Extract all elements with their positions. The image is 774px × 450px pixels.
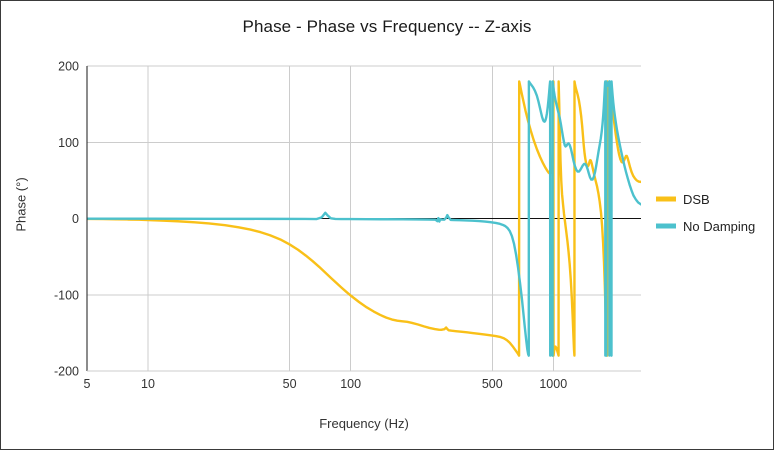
- y-tick-label: 0: [72, 212, 79, 226]
- y-tick-label: 200: [58, 60, 79, 74]
- series-layer: [87, 81, 641, 355]
- x-tick-label: 100: [340, 377, 361, 391]
- legend-label-no-damping[interactable]: No Damping: [683, 219, 755, 234]
- y-tick-label: -100: [54, 288, 79, 302]
- y-tick-label: -200: [54, 365, 79, 379]
- x-tick-label: 5: [84, 377, 91, 391]
- chart-figure: Phase - Phase vs Frequency -- Z-axis Fre…: [0, 0, 774, 450]
- y-tick-label: 100: [58, 136, 79, 150]
- x-tick-label: 1000: [539, 377, 567, 391]
- plot-canvas: -200-1000100200510501005001000 DSBNo Dam…: [1, 1, 773, 449]
- x-tick-label: 50: [283, 377, 297, 391]
- legend-label-dsb[interactable]: DSB: [683, 192, 710, 207]
- x-tick-label: 500: [482, 377, 503, 391]
- tick-label-layer: -200-1000100200510501005001000: [54, 60, 567, 392]
- chart-legend[interactable]: DSBNo Damping: [656, 192, 755, 234]
- x-tick-label: 10: [141, 377, 155, 391]
